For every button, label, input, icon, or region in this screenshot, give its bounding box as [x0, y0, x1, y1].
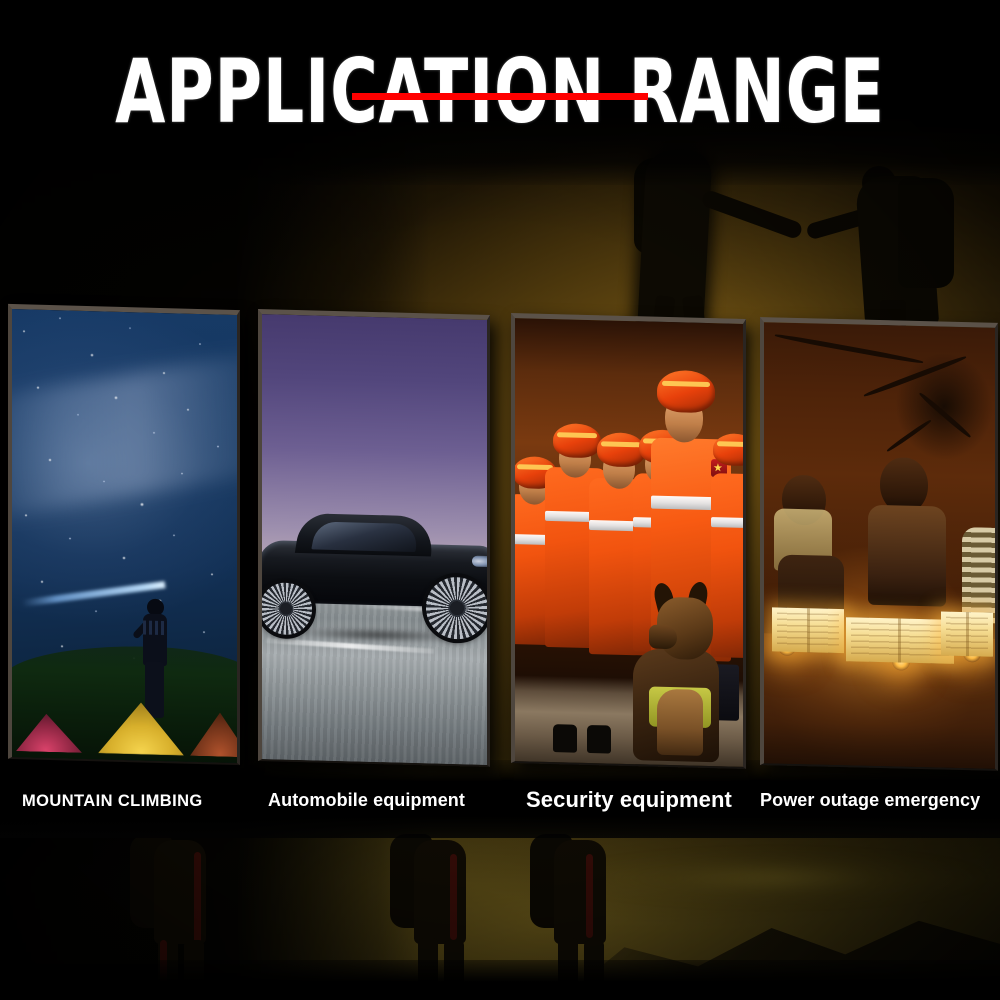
- book-text-lines: [946, 617, 988, 652]
- panel-4-image: [764, 322, 995, 769]
- book-text-lines: [777, 613, 839, 649]
- panel-automobile-equipment[interactable]: [258, 309, 490, 767]
- page-title-block: APPLICATION RANGE: [0, 48, 1000, 136]
- panel-1-image: [12, 309, 237, 763]
- title-underline: [352, 93, 648, 100]
- rescuer-helmet-4: [553, 423, 601, 458]
- panel-security-equipment[interactable]: [511, 313, 746, 769]
- caption-power-outage-emergency: Power outage emergency: [760, 790, 980, 811]
- reflective-stripe-6: [711, 517, 743, 528]
- car-wheel-front: [426, 576, 487, 640]
- application-range-banner: APPLICATION RANGE: [0, 0, 1000, 1000]
- caption-mountain-climbing: MOUNTAIN CLIMBING: [22, 792, 203, 811]
- camper-sweater-pattern: [143, 621, 167, 636]
- panel-3-image: [515, 318, 743, 767]
- camper-legs: [145, 662, 164, 719]
- dog-snout: [649, 625, 677, 650]
- panel-2-image: [262, 314, 487, 765]
- mural-stroke-1: [775, 333, 924, 365]
- child-striped-clothing: [962, 527, 995, 624]
- caption-automobile-equipment: Automobile equipment: [268, 790, 465, 811]
- child-left: [768, 474, 852, 626]
- page-title: APPLICATION RANGE: [90, 48, 910, 136]
- dog-chest: [657, 689, 703, 756]
- car-headlight: [472, 556, 487, 568]
- mural-stroke-4: [886, 419, 932, 453]
- caption-security-equipment: Security equipment: [526, 787, 732, 813]
- camper-silhouette: [140, 598, 166, 719]
- book-center: [846, 617, 954, 664]
- rescuer-helmet-6: [713, 433, 743, 466]
- child-center: [860, 457, 956, 631]
- background-bottom-shadow: [0, 960, 1000, 1000]
- caption-bar: MOUNTAIN CLIMBING Automobile equipment S…: [0, 768, 1000, 830]
- car-wheel-rear: [262, 582, 312, 635]
- panel-power-outage-emergency[interactable]: [760, 317, 998, 771]
- boot-left: [553, 724, 577, 753]
- car-window: [311, 522, 420, 553]
- sports-car: [262, 510, 487, 638]
- child-body: [868, 505, 946, 607]
- mural-stroke-3: [918, 391, 972, 438]
- search-dog: [627, 590, 731, 763]
- book-right: [941, 612, 993, 657]
- rescuer-helmet-1: [657, 370, 715, 413]
- panel-mountain-climbing[interactable]: [8, 304, 240, 765]
- rescuer-helmet-3: [597, 432, 645, 467]
- boot-right: [587, 725, 611, 754]
- book-left: [772, 607, 844, 653]
- book-text-lines: [851, 622, 949, 658]
